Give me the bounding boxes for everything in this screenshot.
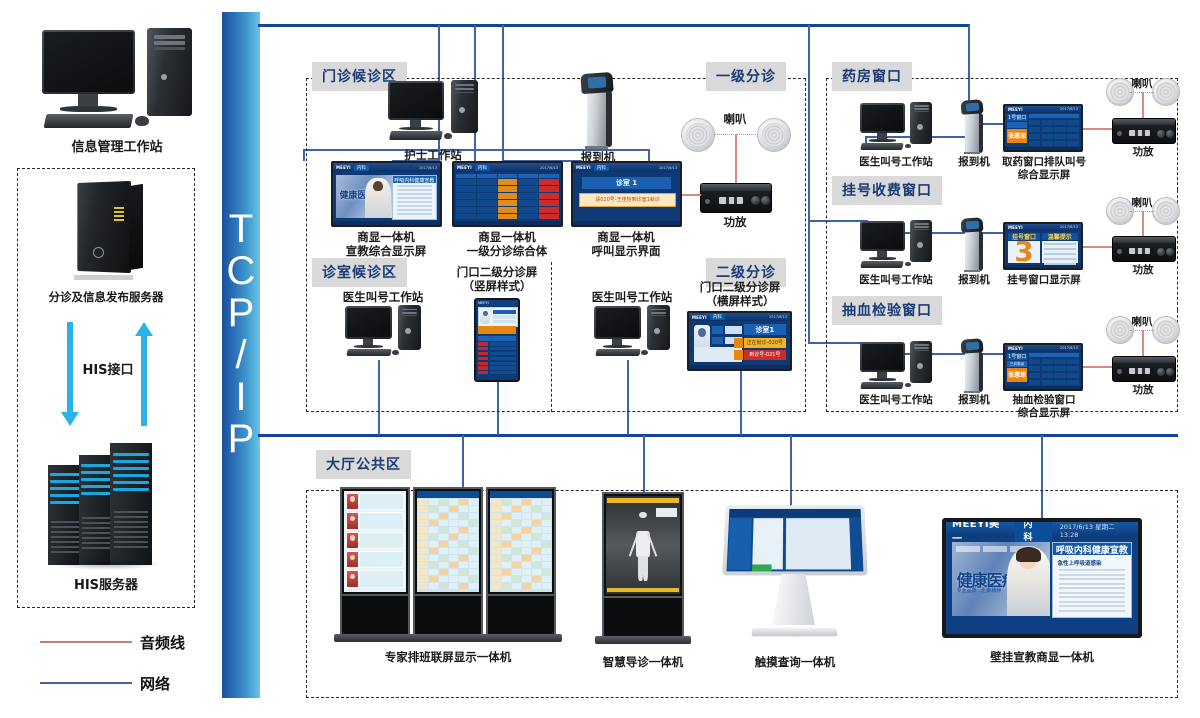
legend-audio-label: 音频线: [140, 632, 185, 653]
expert-board-stand-1: [340, 487, 410, 642]
his-interface-label: HIS接口: [62, 363, 154, 379]
gate-h-room: 诊室1: [744, 324, 786, 335]
doctor-call-station-icon-clinic1: [345, 305, 421, 361]
edu-article-title: 呼吸内科健康宣教: [393, 176, 436, 183]
zone-level1-triage-title: 一级分诊: [706, 62, 786, 91]
legend-network-line: [40, 682, 132, 684]
amplifier-caption-l1: 功放: [705, 215, 765, 229]
speaker-caption-bloodtest: 喇叭: [1112, 316, 1172, 329]
call-room-title: 诊室 1: [582, 177, 672, 189]
call-display-screen: MEEYI 内科 2017/6/13 诊室 1 请020号-王佳怡到诊室1就诊: [571, 161, 682, 227]
screen-time: 2017/6/13: [1060, 346, 1078, 350]
edu-display-screen: MEEYI 内科 2017/6/13 健康医疗 呼吸内科健康宣教: [331, 161, 442, 227]
amplifier-icon-registration: [1112, 236, 1176, 262]
doctor-call-station-caption-registration: 医生叫号工作站: [846, 274, 946, 287]
triage-publish-server-icon: [64, 182, 150, 278]
his-server-caption: HIS服务器: [17, 578, 195, 594]
smart-guide-caption: 智慧导诊一体机: [593, 655, 693, 669]
smart-guide-stand: [602, 492, 684, 644]
doctor-call-station-icon-registration: [860, 220, 932, 272]
nurse-workstation-icon: [388, 80, 478, 146]
touch-query-kiosk: [724, 503, 866, 639]
gate-horizontal-caption-l2: （横屏样式）: [690, 294, 790, 308]
tcp-ip-backbone: TCP/IP: [222, 12, 260, 698]
wall-poster-sub: 专业品质 · 汇聚精粹: [957, 587, 1002, 594]
pharmacy-display-caption-l1: 取药窗口排队叫号: [993, 156, 1095, 169]
bloodtest-window-no: 1号窗口: [1007, 353, 1027, 360]
wall-dept: 内 科: [1015, 522, 1051, 544]
registration-window-screen: MEEYI 2017/6/13 挂号窗口 温馨提示 3: [1003, 222, 1083, 270]
speaker-caption-l1: 喇叭: [705, 112, 765, 126]
call-display-caption-l2: 呼叫显示界面: [576, 244, 676, 258]
screen-logo: MEEYI: [692, 315, 707, 320]
audio-wire-pharmacy-screen-amp: [1083, 128, 1112, 130]
doctor-call-station-caption-bloodtest: 医生叫号工作站: [846, 394, 946, 407]
doctor-call-station-caption-clinic2: 医生叫号工作站: [582, 290, 682, 304]
bloodtest-header: 已到患者: [1007, 361, 1027, 367]
screen-dept: 内科: [710, 314, 725, 320]
gate-h-now: 正在就诊-020号: [744, 338, 786, 348]
wall-edu-screen: MEEYI美一 内 科 2017/6/13 星期二 13:28 健康医疗 专业品…: [942, 518, 1142, 638]
zone-bloodtest-title: 抽血检验窗口: [832, 296, 942, 325]
info-management-workstation-caption: 信息管理工作站: [17, 140, 217, 156]
audio-wire-bloodtest-speaker: [1142, 330, 1144, 357]
screen-time: 2017/6/13: [419, 166, 437, 170]
call-room-text: 请020号-王佳怡到诊室1就诊: [579, 193, 675, 207]
wire-drop-edu: [303, 149, 305, 161]
bloodtest-queue-screen: MEEYI 2017/6/13 1号窗口 已到患者 张惠琼: [1003, 343, 1083, 391]
audio-wire-registration-screen-amp: [1083, 246, 1112, 248]
speaker-caption-pharmacy: 喇叭: [1112, 78, 1172, 91]
screen-dept: 内科: [475, 165, 490, 171]
tcp-ip-label: TCP/IP: [222, 208, 260, 460]
screen-time: 2017/6/13: [659, 166, 677, 170]
wall-edu-caption: 壁挂宣教商显一体机: [975, 650, 1109, 664]
checkin-machine-icon-pharmacy: [959, 100, 987, 154]
his-server-icon: [48, 443, 164, 565]
expert-board-caption: 专家排班联屏显示一体机: [340, 650, 556, 664]
audio-wire-l1-speaker: [735, 134, 737, 184]
registration-display-caption: 挂号窗口显示屏: [993, 274, 1095, 287]
doctor-call-station-icon-pharmacy: [860, 102, 932, 154]
triage1-display-caption-l2: 一级分诊综合体: [457, 244, 557, 258]
screen-dept: 内科: [354, 165, 369, 171]
wall-article-sub: 急性上呼吸道感染: [1058, 559, 1127, 567]
triage1-display-screen: MEEYI 内科 2017/6/13: [452, 161, 563, 227]
zone-clinic-waiting-title: 诊室候诊区: [312, 258, 407, 287]
legend-audio-line: [40, 641, 132, 643]
wire-blood-riser: [808, 220, 810, 342]
audio-wire-registration-speaker: [1142, 211, 1144, 237]
amplifier-caption-registration: 功放: [1113, 264, 1173, 277]
nurse-workstation-caption: 护士工作站: [383, 148, 483, 162]
bloodtest-display-caption-l2: 综合显示屏: [993, 407, 1095, 420]
gate-h-next: 到诊号-021号: [744, 350, 786, 360]
doctor-call-station-icon-clinic2: [594, 305, 670, 361]
bloodtest-patient: 张惠琼: [1007, 368, 1027, 381]
wall-time: 2017/6/13 星期二 13:28: [1060, 522, 1132, 539]
pharmacy-display-caption-l2: 综合显示屏: [993, 169, 1095, 182]
info-management-workstation-icon: [42, 28, 192, 138]
checkin-machine-icon-registration: [959, 218, 987, 272]
gate-vertical-caption-l2: （竖屏样式）: [447, 279, 547, 293]
edu-display-caption-l1: 商显一体机: [336, 230, 436, 244]
registration-number: 3: [1008, 241, 1040, 263]
amplifier-icon-l1: [700, 183, 772, 213]
gate-vertical-screen: MEEYI: [474, 298, 520, 382]
bloodtest-display-caption-l1: 抽血检验窗口: [993, 394, 1095, 407]
zone-divider-clinic: [551, 262, 552, 412]
screen-dept: 内科: [594, 165, 609, 171]
bottom-network-bus: [258, 434, 1178, 437]
amplifier-caption-bloodtest: 功放: [1113, 384, 1173, 397]
screen-time: 2017/6/13: [540, 166, 558, 170]
screen-logo: MEEYI: [1008, 346, 1023, 351]
legend-network-label: 网络: [140, 673, 170, 694]
registration-tips-title: 温馨提示: [1042, 233, 1078, 240]
zone-pharmacy-title: 药房窗口: [832, 62, 912, 91]
amplifier-icon-bloodtest: [1112, 356, 1176, 382]
edu-display-caption-l2: 宣教综合显示屏: [336, 244, 436, 258]
checkin-machine-icon-bloodtest: [959, 339, 987, 393]
expert-board-stand-3: [486, 487, 556, 642]
doctor-call-station-caption-pharmacy: 医生叫号工作站: [846, 156, 946, 169]
wire-drop-smart-guide: [643, 435, 645, 493]
gate-vertical-caption-l1: 门口二级分诊屏: [447, 265, 547, 279]
screen-logo: MEEYI: [478, 301, 489, 305]
zone-registration-title: 挂号收费窗口: [832, 176, 942, 205]
doctor-call-station-icon-bloodtest: [860, 341, 932, 393]
pharmacy-window-no: 1号窗口: [1007, 114, 1027, 121]
zone-lobby-title: 大厅公共区: [316, 450, 411, 479]
screen-logo: MEEYI: [457, 165, 472, 170]
checkin-machine-icon-1: [578, 73, 618, 149]
wall-article-title: 呼吸内科健康宣教: [1053, 543, 1132, 555]
top-network-bus: [258, 24, 970, 27]
pharmacy-patient: 张惠琼: [1007, 129, 1027, 142]
doctor-call-station-caption-clinic1: 医生叫号工作站: [333, 290, 433, 304]
triage-publish-server-caption: 分诊及信息发布服务器: [17, 290, 195, 304]
audio-wire-pharmacy-speaker: [1142, 92, 1144, 119]
expert-board-stand-2: [413, 487, 483, 642]
screen-time: 2017/6/13: [1060, 225, 1078, 229]
screen-logo: MEEYI: [1008, 225, 1023, 230]
screen-logo: MEEYI: [576, 165, 591, 170]
triage1-display-caption-l1: 商显一体机: [457, 230, 557, 244]
speaker-caption-registration: 喇叭: [1112, 197, 1172, 210]
screen-logo: MEEYI: [336, 165, 351, 170]
pharmacy-queue-screen: MEEYI 2017/6/13 1号窗口 张惠琼: [1003, 104, 1083, 152]
wire-drop-expert-board: [462, 435, 464, 490]
screen-logo: MEEYI: [1008, 107, 1023, 112]
network-topology-diagram: 信息管理工作站 分诊及信息发布服务器 HIS接口 HIS服务器 音频线 网络: [0, 0, 1200, 718]
screen-time: 2017/6/13: [769, 315, 787, 319]
touch-query-caption: 触摸查询一体机: [745, 655, 845, 669]
amplifier-icon-pharmacy: [1112, 118, 1176, 144]
call-display-caption-l1: 商显一体机: [576, 230, 676, 244]
gate-horizontal-caption-l1: 门口二级分诊屏: [690, 280, 790, 294]
screen-time: 2017/6/13: [1060, 107, 1078, 111]
gate-horizontal-screen: MEEYI 内科 2017/6/13 诊室1 正在就诊-020号 到诊号-021…: [687, 311, 792, 371]
wire-riser-right-column: [808, 25, 810, 220]
amplifier-caption-pharmacy: 功放: [1113, 146, 1173, 159]
audio-wire-bloodtest-screen-amp: [1083, 366, 1112, 368]
